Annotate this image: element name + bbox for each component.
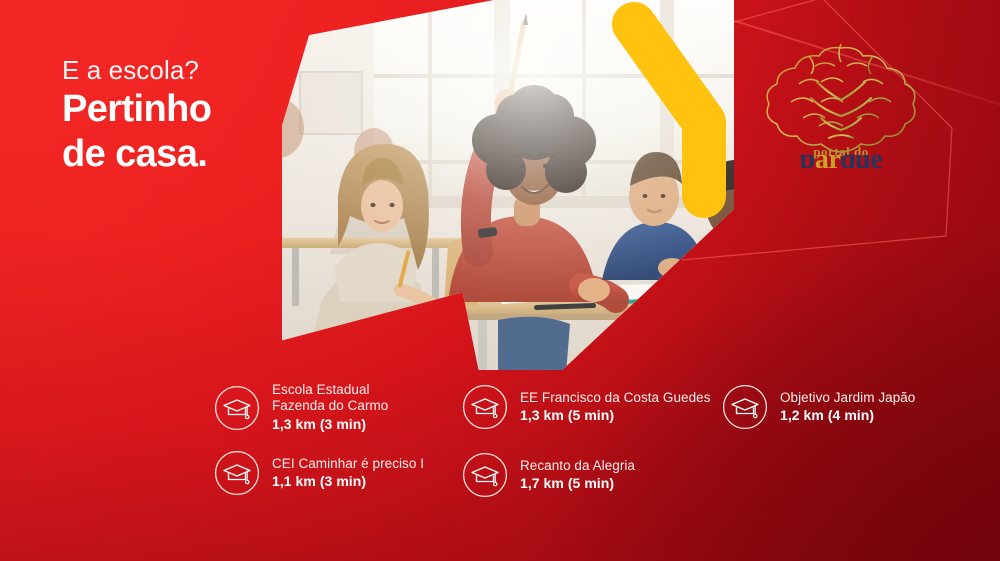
list-item[interactable]: Objetivo Jardim Japão 1,2 km (4 min) [722,384,915,430]
school-distance: 1,7 km (5 min) [520,475,635,492]
school-distance: 1,3 km (5 min) [520,407,711,424]
graduation-cap-icon [462,384,508,430]
headline-block: E a escola? Pertinho de casa. [62,56,362,175]
headline-kicker: E a escola? [62,56,362,85]
list-item-text: CEI Caminhar é preciso I 1,1 km (3 min) [272,456,424,491]
graduation-cap-icon [214,450,260,496]
graduation-cap-icon [214,385,260,431]
school-name-line-1: Escola Estadual [272,382,388,398]
school-distance: 1,2 km (4 min) [780,407,915,424]
list-item-text: Recanto da Alegria 1,7 km (5 min) [520,458,635,493]
list-item[interactable]: CEI Caminhar é preciso I 1,1 km (3 min) [214,450,424,496]
list-item[interactable]: Escola Estadual Fazenda do Carmo 1,3 km … [214,382,388,433]
list-item[interactable]: Recanto da Alegria 1,7 km (5 min) [462,452,635,498]
school-name-line-1: Recanto da Alegria [520,458,635,474]
school-name-line-1: Objetivo Jardim Japão [780,390,915,406]
school-name-line-1: EE Francisco da Costa Guedes [520,390,711,406]
list-item-text: EE Francisco da Costa Guedes 1,3 km (5 m… [520,390,711,425]
brand-logo: portal do parque [755,38,927,168]
school-distance: 1,3 km (3 min) [272,416,388,433]
schools-list: Escola Estadual Fazenda do Carmo 1,3 km … [214,382,996,517]
list-item[interactable]: EE Francisco da Costa Guedes 1,3 km (5 m… [462,384,711,430]
logo-word-main: parque [800,144,883,168]
slide-canvas: E a escola? Pertinho de casa. Educação [0,0,1000,561]
school-distance: 1,1 km (3 min) [272,473,424,490]
graduation-cap-icon [722,384,768,430]
list-item-text: Escola Estadual Fazenda do Carmo 1,3 km … [272,382,388,433]
school-name-line-1: CEI Caminhar é preciso I [272,456,424,472]
list-item-text: Objetivo Jardim Japão 1,2 km (4 min) [780,390,915,425]
school-name-line-2: Fazenda do Carmo [272,398,388,414]
graduation-cap-icon [462,452,508,498]
headline-line-1: Pertinho [62,89,362,130]
headline-line-2: de casa. [62,134,362,175]
